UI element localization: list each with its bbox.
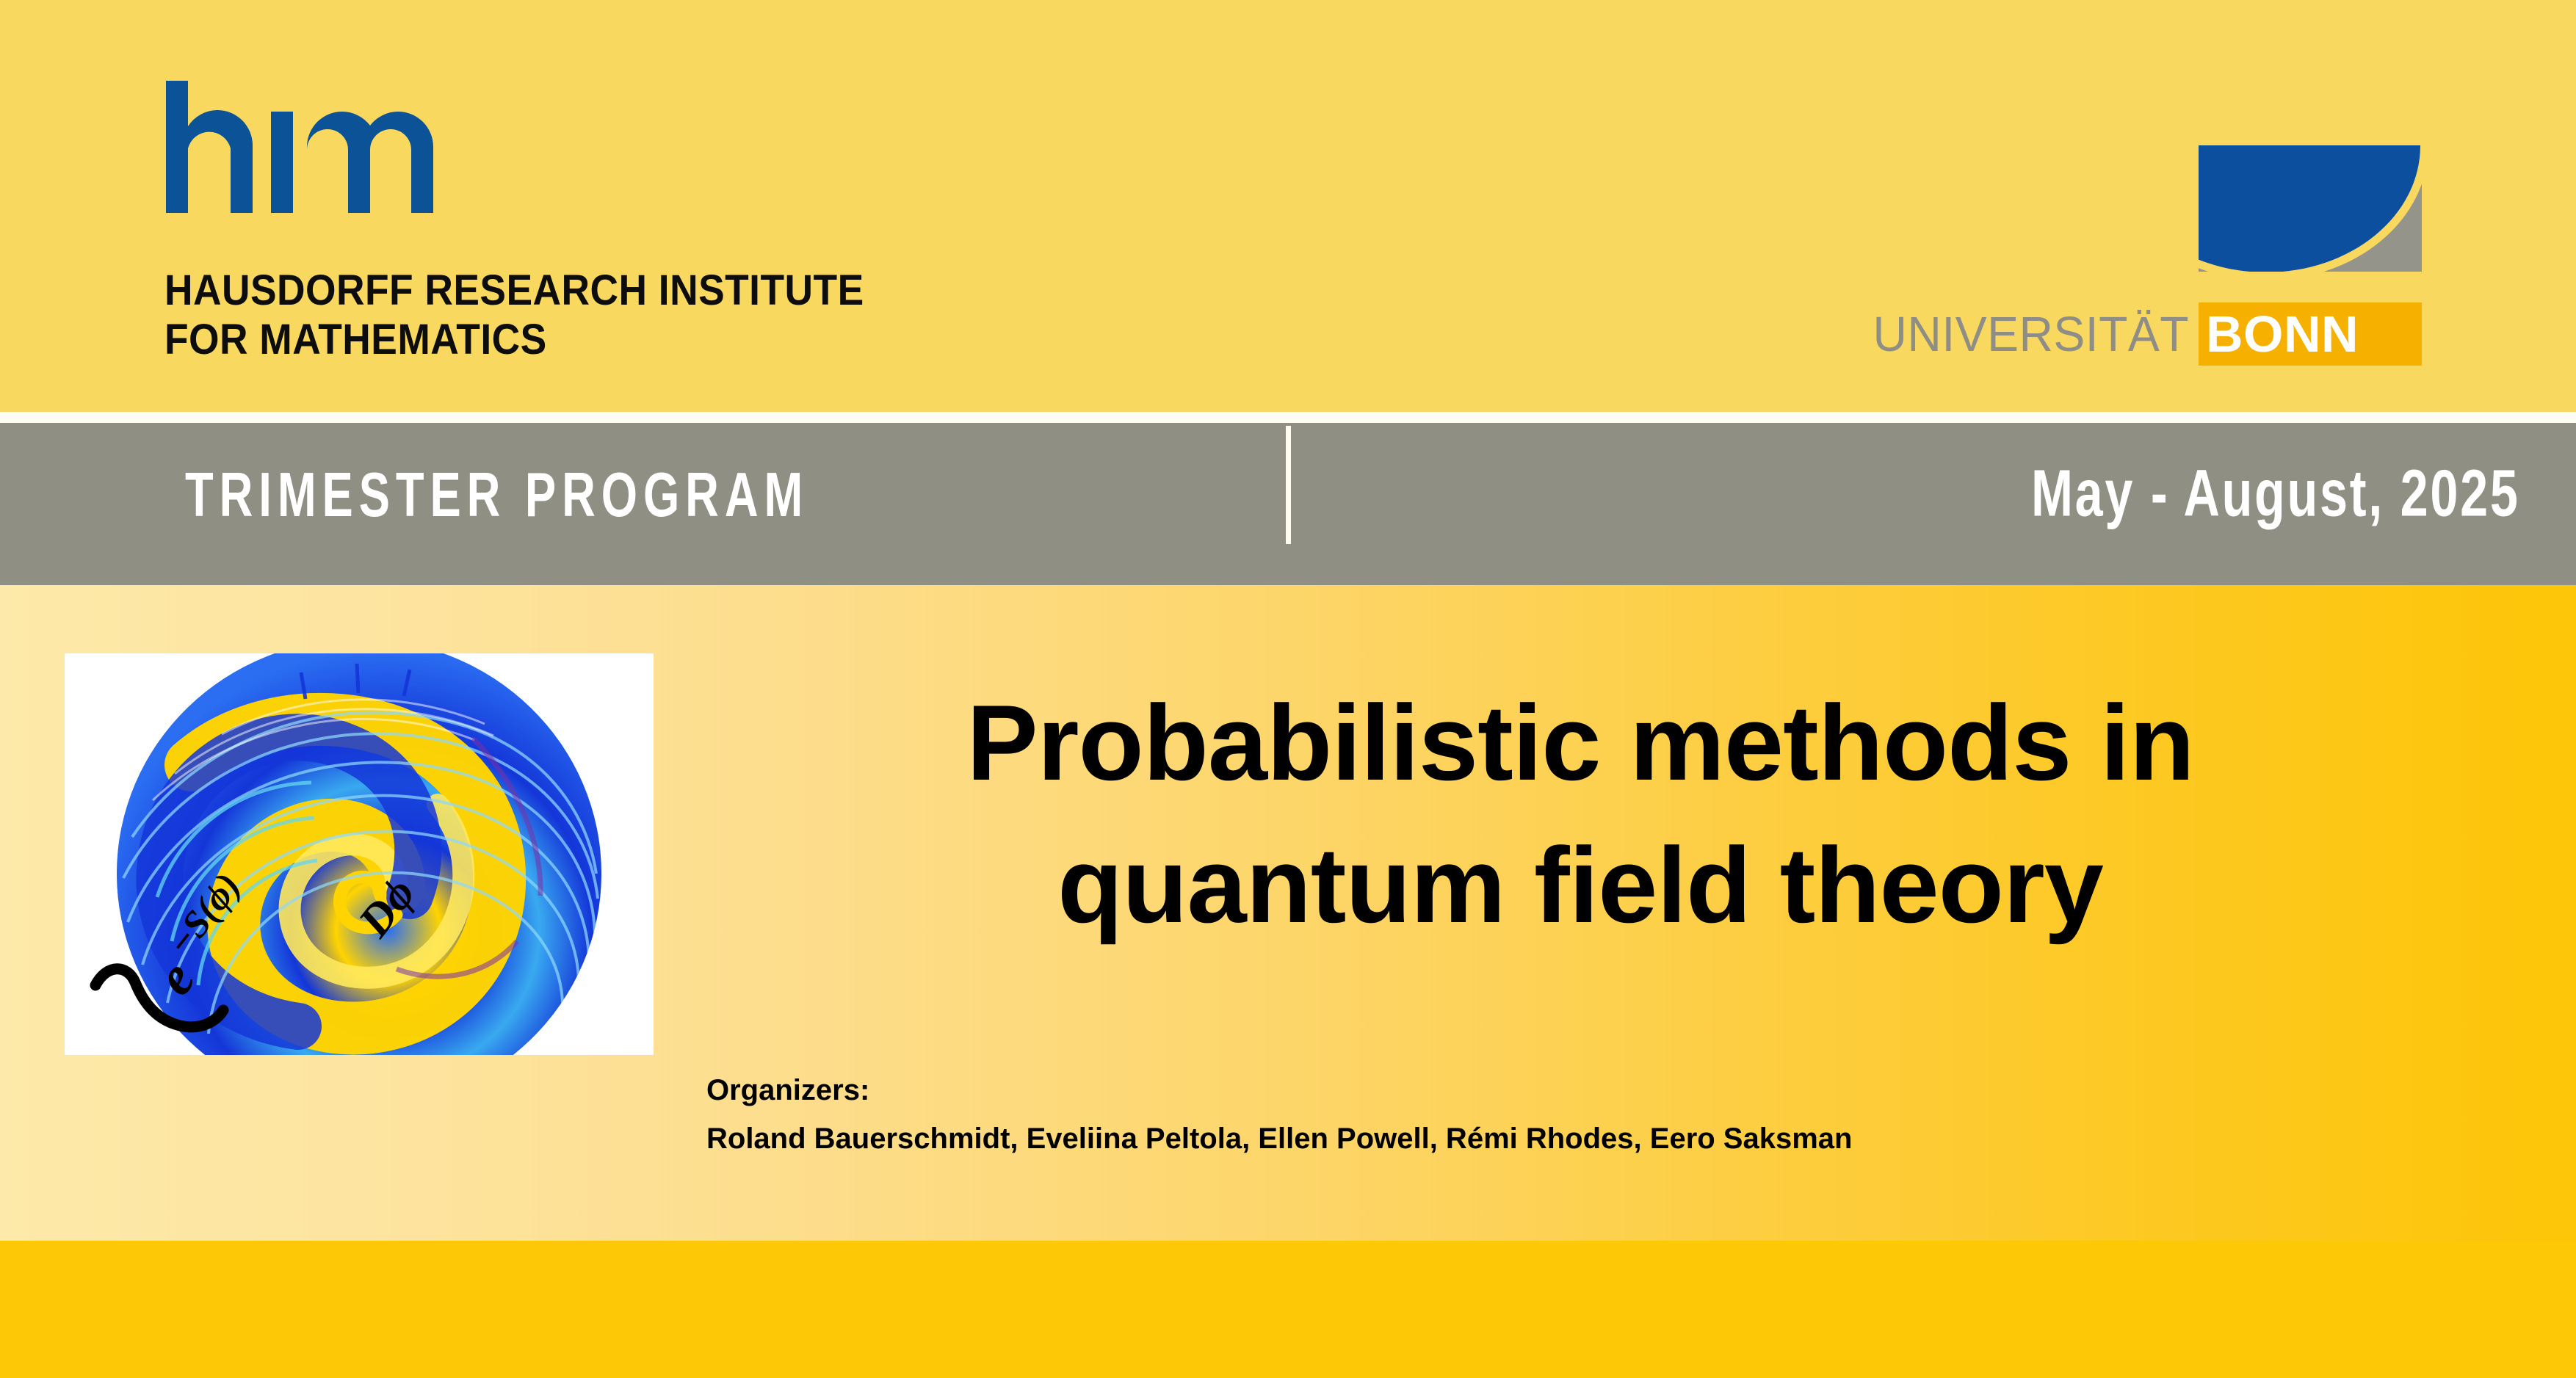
banner-divider (1286, 426, 1291, 544)
program-type-label: TRIMESTER PROGRAM (185, 464, 808, 526)
footer-band (0, 1241, 2576, 1378)
bonn-crest-arc (2199, 145, 2420, 272)
bonn-wordmark: UNIVERSITÄT BONN (1842, 302, 2422, 366)
him-wordmark-icon (163, 81, 515, 213)
organizers-names: Roland Bauerschmidt, Eveliina Peltola, E… (706, 1123, 2395, 1155)
page-title: Probabilistic methods in quantum field t… (728, 672, 2432, 957)
program-dates-label: May - August, 2025 (2031, 461, 2520, 527)
poster-root: HAUSDORFF RESEARCH INSTITUTE FOR MATHEMA… (0, 0, 2576, 1378)
program-banner: TRIMESTER PROGRAM May - August, 2025 (0, 423, 2576, 585)
him-subtitle: HAUSDORFF RESEARCH INSTITUTE FOR MATHEMA… (164, 266, 948, 365)
qft-swirl-artwork: e −S(ϕ) Dϕ (65, 653, 654, 1055)
university-bonn-logo: UNIVERSITÄT BONN (1842, 145, 2422, 366)
him-logo: HAUSDORFF RESEARCH INSTITUTE FOR MATHEMA… (163, 81, 1044, 374)
bonn-crest-icon (2199, 145, 2422, 272)
main-body: e −S(ϕ) Dϕ Probabilistic methods in quan… (0, 585, 2576, 1241)
organizers-label: Organizers: (706, 1074, 2395, 1106)
bonn-universitaet-label: UNIVERSITÄT (1873, 302, 2199, 366)
header-band: HAUSDORFF RESEARCH INSTITUTE FOR MATHEMA… (0, 0, 2576, 412)
organizers-block: Organizers: Roland Bauerschmidt, Eveliin… (706, 1074, 2395, 1155)
header-separator (0, 412, 2576, 423)
bonn-city-label: BONN (2199, 302, 2422, 366)
